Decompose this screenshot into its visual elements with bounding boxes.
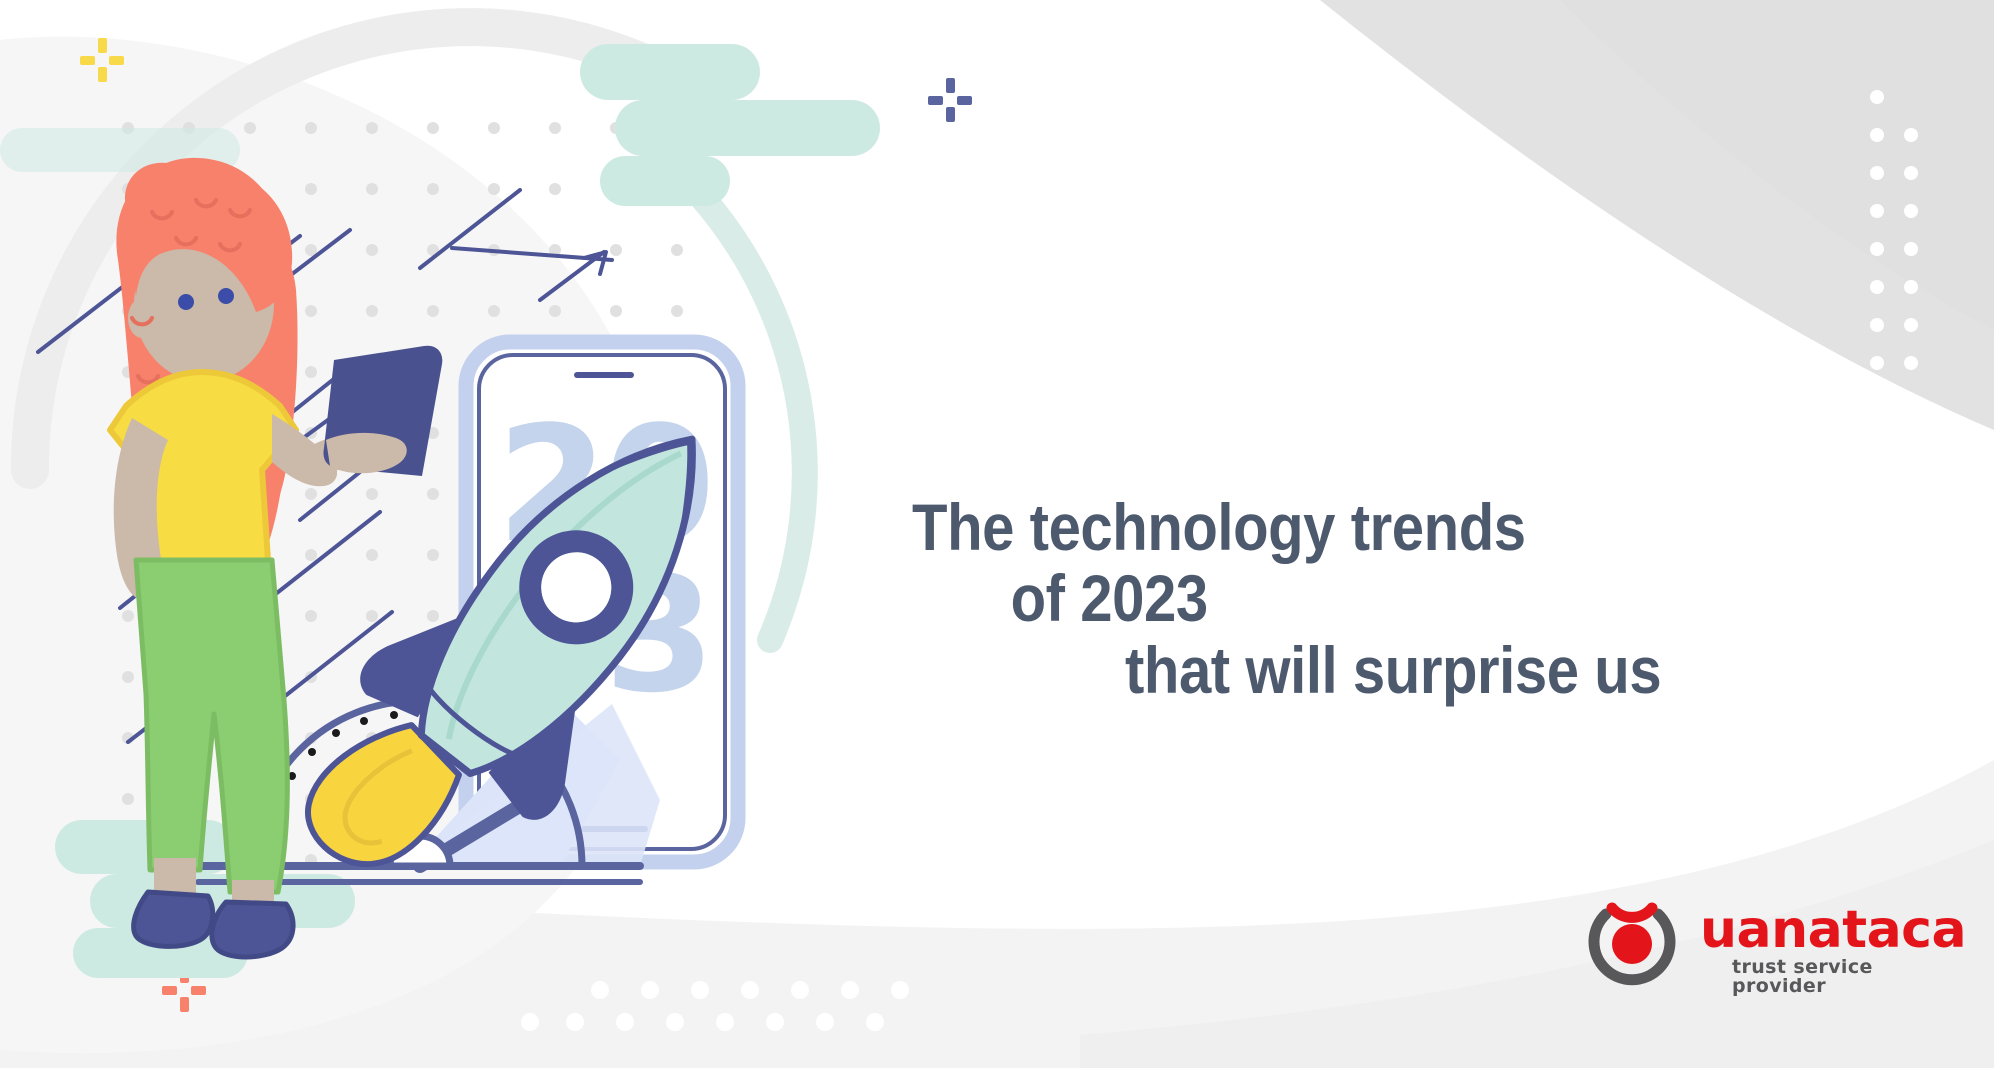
headline-line-3: that will surprise us	[905, 635, 1803, 706]
headline-line-2: of 2023	[905, 563, 1803, 634]
uanataca-logo-mark	[1572, 898, 1692, 988]
hero-illustration: 20 23	[0, 0, 760, 1068]
character-eye-right	[218, 288, 234, 304]
page-title: The technology trends of 2023 that will …	[905, 492, 1803, 706]
illustration-svg: 20 23	[0, 0, 760, 1068]
logo-tagline: trust service provider	[1732, 958, 1952, 996]
character-shoe-right	[212, 902, 293, 957]
character-eye-left	[178, 294, 194, 310]
logo-wordmark: uanataca	[1700, 904, 1966, 956]
logo-dot	[1612, 924, 1652, 964]
banner-canvas: 20 23	[0, 0, 1994, 1068]
character-pants	[136, 560, 287, 892]
headline-line-1: The technology trends	[905, 492, 1803, 563]
character-shoe-left	[134, 892, 213, 946]
character-ankle-left	[154, 858, 196, 894]
right-dot-columns	[1870, 90, 1950, 390]
logo-arc	[1612, 908, 1652, 917]
uanataca-logo[interactable]: uanataca trust service provider	[1572, 898, 1952, 988]
